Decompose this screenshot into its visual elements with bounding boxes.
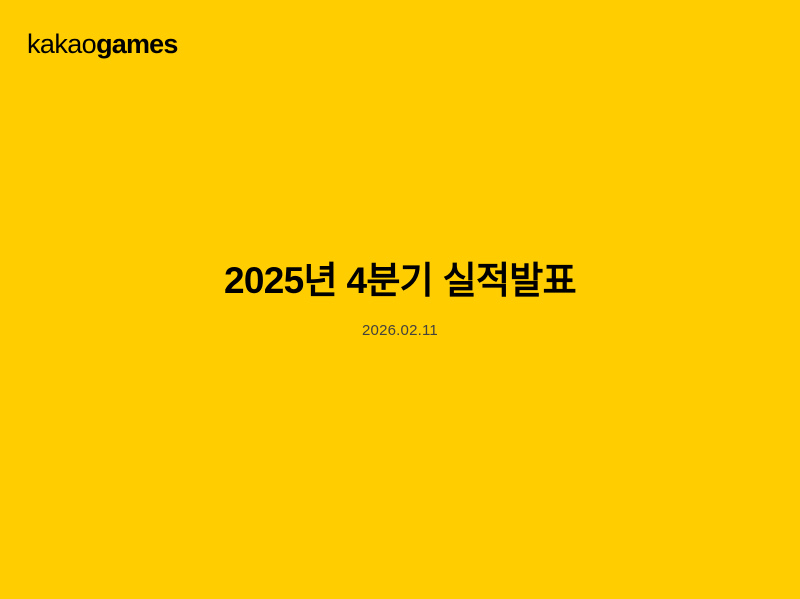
presentation-title-slide: kakaogames 2025년 4분기 실적발표 2026.02.11: [0, 0, 800, 599]
slide-center-content: 2025년 4분기 실적발표 2026.02.11: [0, 0, 800, 599]
slide-title: 2025년 4분기 실적발표: [224, 259, 576, 303]
slide-date: 2026.02.11: [362, 303, 438, 340]
